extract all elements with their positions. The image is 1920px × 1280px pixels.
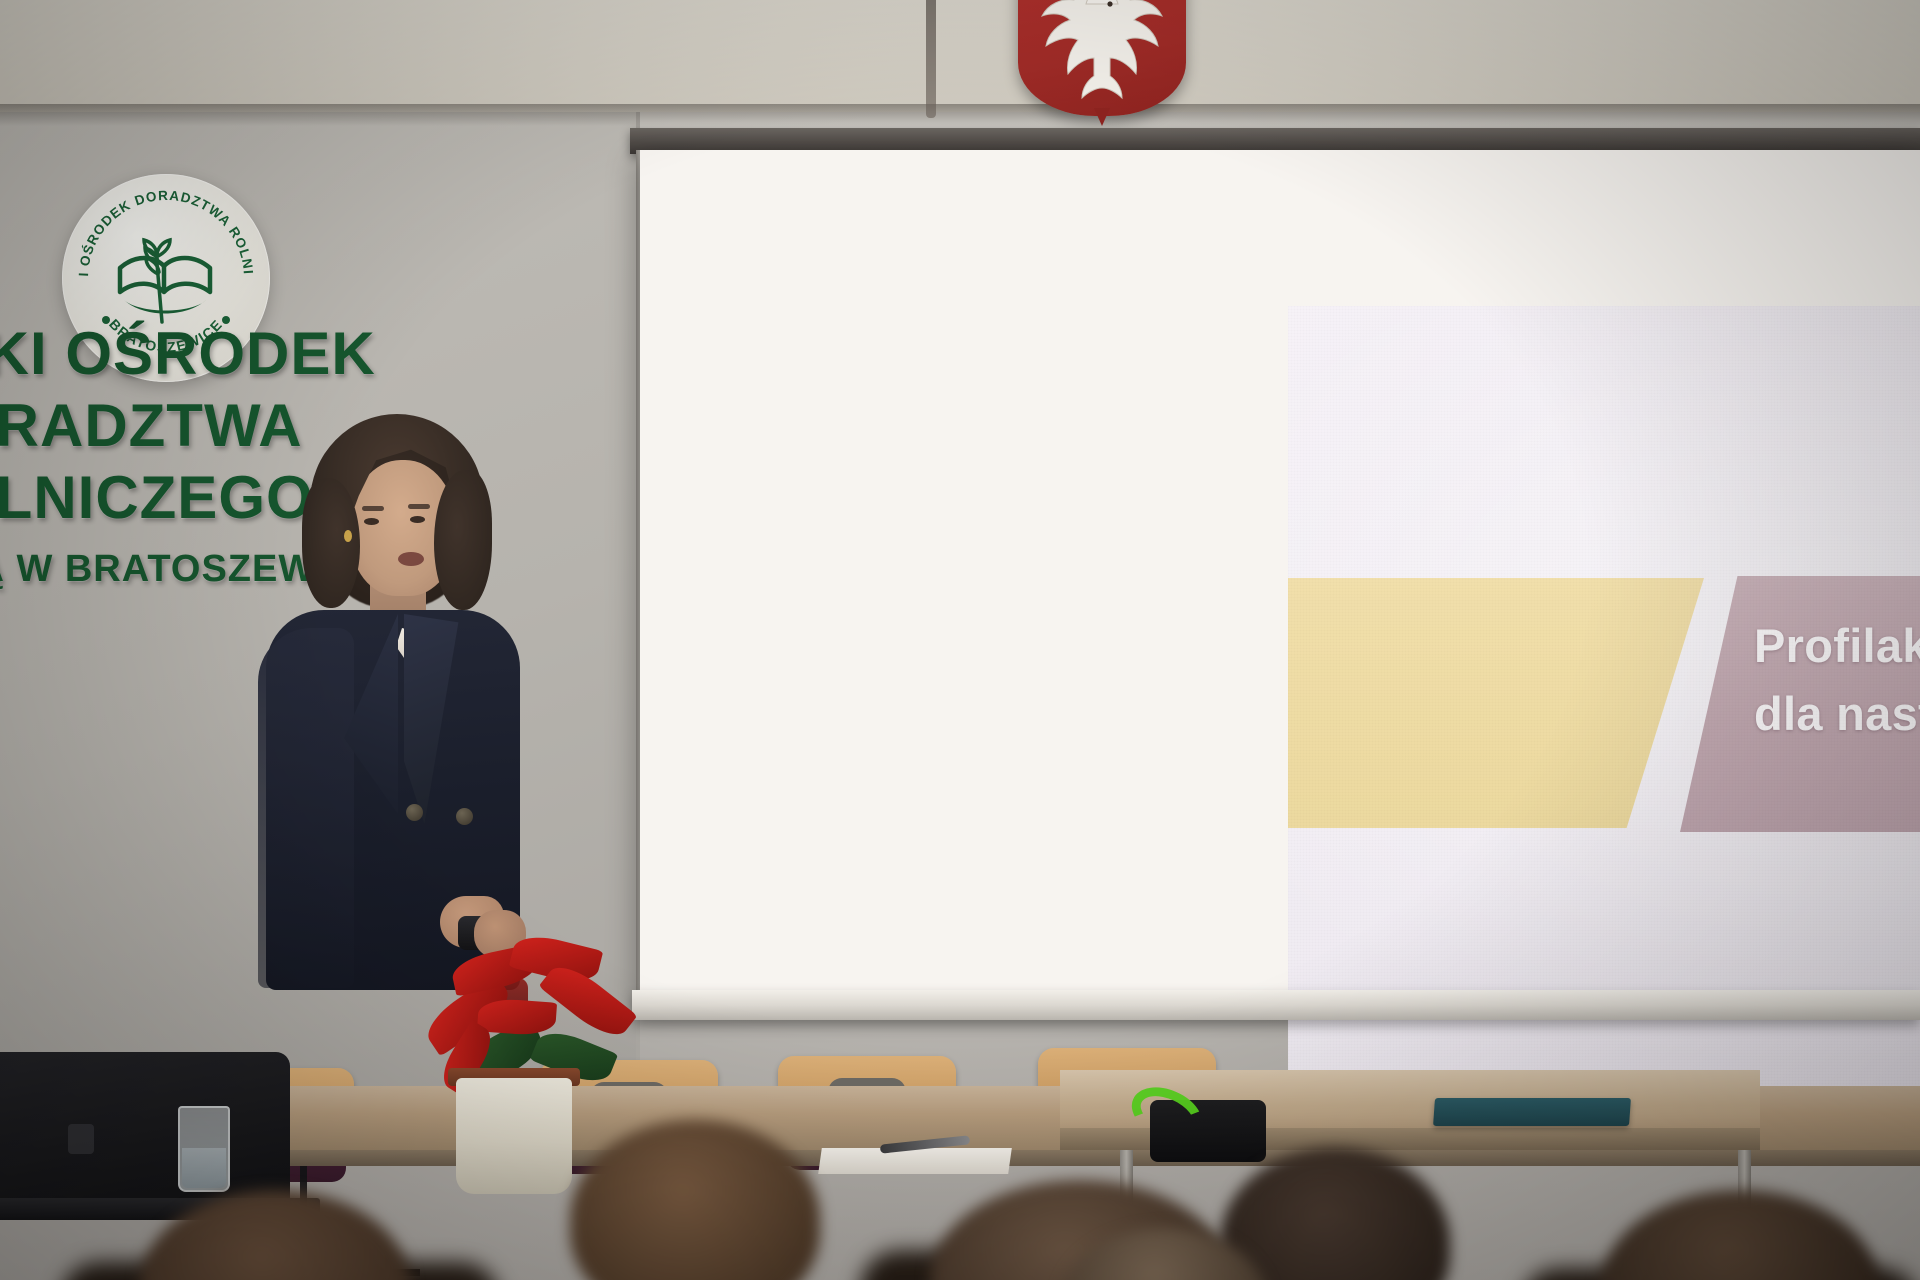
sign-line-1: ZKI OŚRODEK [0,318,588,390]
slide-mauve-band: Profilaktyka zdrowotna dla nastolatki i … [1680,576,1920,832]
water [182,1148,226,1188]
presenter-eye-left [364,518,379,525]
laptop-lid [0,1052,290,1212]
presenter-mouth [398,552,424,566]
polish-coat-of-arms-emblem [1018,0,1186,116]
screen-bottom-bar [632,990,1920,1020]
plant-leaf [477,997,557,1036]
slide-title: Profilaktyka zdrowotna dla nastolatki i … [1754,612,1920,748]
slide-yellow-band [1288,578,1704,828]
presenter-hair-curl-left [302,478,360,608]
paper-sheet [818,1148,1012,1174]
presenter-brow-left [362,506,384,511]
presentation-photo-scene: ŁÓDZKI OŚRODEK DORADZTWA ROLNICZEGO BRAT… [0,0,1920,1280]
presenter-hair-curl-right [434,470,492,610]
presenter-brow-right [408,504,430,509]
presenter-earring [344,530,352,542]
slide-title-line-2: dla nastolatki i nastolatka [1754,680,1920,748]
projection-screen: N F Z Narodowy Fundusz Zdrowia Profilakt… [640,150,1920,1005]
laptop [0,1052,290,1212]
presenter-eye-right [410,516,425,523]
presenter-shoulder [258,628,354,988]
presenter-figure [258,418,528,978]
teal-notebook [1433,1098,1631,1126]
plant-pot [456,1078,572,1194]
ceiling-shadow [0,104,1920,126]
upper-wall [0,0,1920,120]
white-eagle-icon [1018,0,1186,116]
water-glass [178,1106,230,1192]
wall-pipe [926,0,936,118]
presenter-jacket-button-2 [456,808,473,825]
slide-title-line-1: Profilaktyka zdrowotna [1754,612,1920,680]
laptop-logo [68,1124,94,1154]
presenter-jacket-button-1 [406,804,423,821]
book-and-wheat-icon [106,226,226,330]
